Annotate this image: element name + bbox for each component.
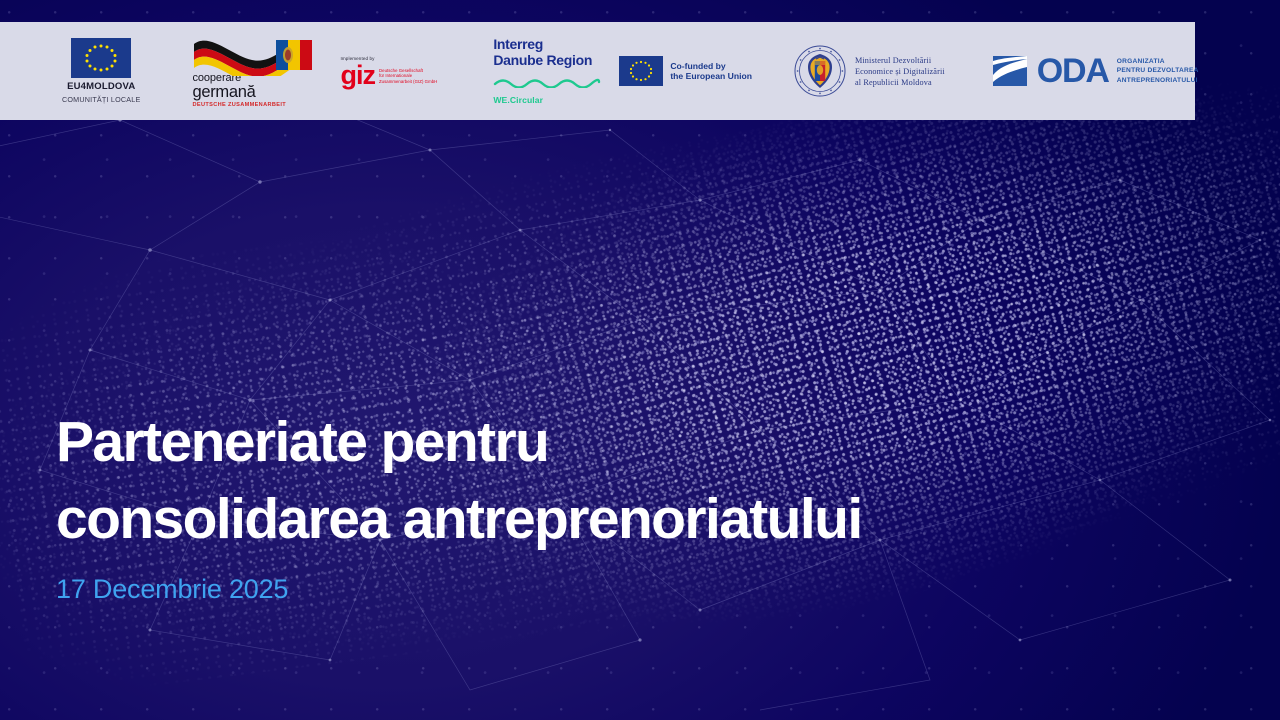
logo-ministry-line3: al Republicii Moldova xyxy=(855,77,945,88)
partner-logo-bar: EU4MOLDOVA COMUNITĂȚI LOCALE cooperare xyxy=(0,22,1195,120)
german-moldovan-ribbon-icon xyxy=(192,34,316,76)
logo-eu4moldova-line2: COMUNITĂȚI LOCALE xyxy=(62,95,140,104)
logo-oda-line1: ORGANIZATIA xyxy=(1117,57,1199,66)
slide-date: 17 Decembrie 2025 xyxy=(56,574,862,605)
logo-eu4moldova-line1: EU4MOLDOVA xyxy=(67,81,135,92)
slide-copy: Parteneriate pentru consolidarea antrepr… xyxy=(56,404,862,605)
logo-ministerul-dezvoltarii: Ministerul Dezvoltării Economice și Digi… xyxy=(794,45,945,97)
logo-cooperare-line3: DEUTSCHE ZUSAMMENARBEIT xyxy=(192,102,286,108)
logo-giz: Implemented by giz Deutsche Gesellschaft… xyxy=(340,56,437,86)
logo-co-funded-eu: Co-funded by the European Union xyxy=(619,56,752,86)
logo-co-funded-line1: Co-funded by xyxy=(670,61,752,72)
oda-swoosh-icon xyxy=(991,53,1029,89)
logo-interreg-line2: Danube Region xyxy=(493,53,592,68)
presentation-slide: EU4MOLDOVA COMUNITĂȚI LOCALE cooperare xyxy=(0,0,1280,720)
logo-oda-line3: ANTREPRENORIATULUI xyxy=(1117,76,1199,85)
slide-title-line1: Parteneriate pentru xyxy=(56,404,862,481)
logo-interreg-danube-region: Interreg Danube Region WE.Circular xyxy=(493,37,601,105)
logo-co-funded-line2: the European Union xyxy=(670,71,752,82)
logo-oda-line2: PENTRU DEZVOLTAREA xyxy=(1117,66,1199,75)
logo-oda-mark: ODA xyxy=(1037,55,1109,87)
logo-ministry-line2: Economice și Digitalizării xyxy=(855,66,945,77)
logo-cooperare-germana: cooperare germană DEUTSCHE ZUSAMMENARBEI… xyxy=(192,34,316,108)
logo-eu4moldova: EU4MOLDOVA COMUNITĂȚI LOCALE xyxy=(62,38,140,104)
logo-interreg-line3: WE.Circular xyxy=(493,95,543,105)
giz-logo-icon: giz xyxy=(340,64,375,86)
eu-flag-icon xyxy=(619,56,663,86)
moldova-state-seal-icon xyxy=(794,45,846,97)
slide-title-line2: consolidarea antreprenoriatului xyxy=(56,481,862,558)
logo-giz-implemented-by: Implemented by xyxy=(340,56,374,61)
logo-giz-desc3: Zusammenarbeit (GIZ) GmbH xyxy=(379,79,437,84)
eu-flag-icon xyxy=(71,38,131,78)
interreg-wave-icon xyxy=(493,75,601,93)
logo-cooperare-line2: germană xyxy=(192,84,286,101)
logo-interreg-line1: Interreg xyxy=(493,37,543,51)
logo-oda: ODA ORGANIZATIA PENTRU DEZVOLTAREA ANTRE… xyxy=(991,53,1199,89)
logo-ministry-line1: Ministerul Dezvoltării xyxy=(855,55,945,66)
